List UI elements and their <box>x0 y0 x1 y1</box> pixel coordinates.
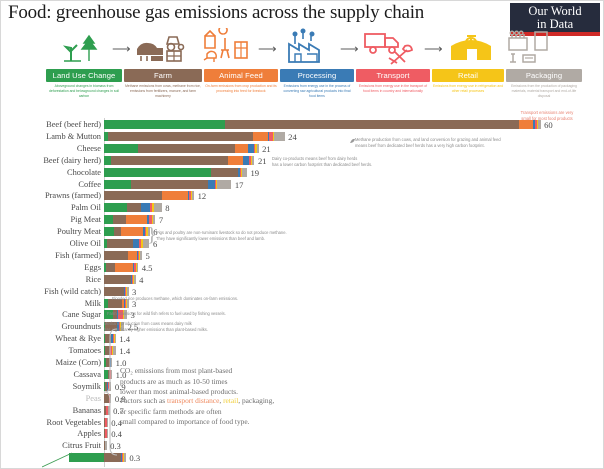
processing-factory-icon <box>280 26 334 68</box>
legend-desc-5: Emissions from energy use in refrigerati… <box>432 84 504 94</box>
bar-segment-land-use-change <box>104 120 225 129</box>
retail-store-icon <box>444 26 500 68</box>
annotation-plant-based-2: Factors such as transport distance, reta… <box>120 396 380 428</box>
bar-segment-processing <box>208 180 215 189</box>
bar-segment-packaging <box>140 251 141 260</box>
annotation-wildfish-note: Farm emissions for wild fish refers to f… <box>107 311 367 317</box>
row-label: Wheat & Rye <box>1 333 101 344</box>
row-label: Poultry Meat <box>1 226 101 237</box>
bar-segment-land-use-change <box>104 168 211 177</box>
bar-segment-farm <box>108 132 253 141</box>
legend-block-retail[interactable]: Retail <box>432 69 504 82</box>
plant-based-2-transport: transport distance <box>167 396 219 405</box>
annotation-dairy-note: Dairy co-products means beef from dairy … <box>272 156 492 169</box>
row-label: Olive Oil <box>1 238 101 249</box>
plant-based-brace <box>105 328 119 456</box>
methane-marker-icon <box>349 137 356 144</box>
plant-based-2-pre: Factors such as <box>120 396 167 405</box>
row-value: 0.3 <box>129 453 140 464</box>
legend-block-land-use-change[interactable]: Land Use Change <box>46 69 122 82</box>
row-label: Bananas <box>1 405 101 416</box>
farm-livestock-icon <box>132 26 192 68</box>
bar-segment-land-use-change <box>104 215 113 224</box>
bar-segment-animal-feed <box>115 263 133 272</box>
bar-segment-farm <box>113 215 126 224</box>
bar-segment-packaging <box>257 144 258 153</box>
bar-segment-animal-feed <box>128 251 137 260</box>
bar-segment-animal-feed <box>235 144 248 153</box>
annotation-rice-note: Flooded rice produces methane, which dom… <box>112 296 372 302</box>
bar-segment-farm <box>127 203 140 212</box>
annotation-pig-poultry-note: Pigs and poultry are non-ruminant livest… <box>156 230 406 243</box>
legend-block-farm[interactable]: Farm <box>124 69 202 82</box>
arrow-right-icon-4: ⟶ <box>424 42 443 55</box>
bar-segment-farm <box>111 156 228 165</box>
bar-segment-farm <box>104 251 128 260</box>
animal-feed-icon <box>198 26 254 68</box>
bar-segment-animal-feed <box>126 215 148 224</box>
row-label: Fish (farmed) <box>1 250 101 261</box>
bar-segment-packaging <box>127 287 128 296</box>
legend-desc-3: Emissions from energy use in the process… <box>280 84 354 100</box>
row-label: Coffee <box>1 179 101 190</box>
row-label: Cane Sugar <box>1 309 101 320</box>
row-label: Lamb & Mutton <box>1 131 101 142</box>
bar-segment-farm <box>104 275 131 284</box>
bar-segment-animal-feed <box>228 156 244 165</box>
bar-segment-land-use-change <box>104 203 127 212</box>
row-label: Groundnuts <box>1 321 101 332</box>
legend-desc-1: Methane emissions from cows, methane fro… <box>124 84 202 100</box>
nuts-callout-line <box>42 452 82 468</box>
legend-block-animal-feed[interactable]: Animal Feed <box>204 69 278 82</box>
packaging-icon <box>504 26 560 68</box>
transport-truck-plane-icon <box>360 26 418 68</box>
row-label: Tomatoes <box>1 345 101 356</box>
legend-desc-2: On-farm emissions from crop production a… <box>204 84 278 94</box>
legend-block-packaging[interactable]: Packaging <box>506 69 582 82</box>
bar-segment-packaging <box>217 180 231 189</box>
bar-segment-land-use-change <box>104 156 111 165</box>
chart-row[interactable]: Nuts0.3 <box>0 451 604 466</box>
row-label: Root Vegetables <box>1 417 101 428</box>
legend-desc-4: Emissions from energy use in the transpo… <box>356 84 430 94</box>
legend-desc-0: Aboveground changes in biomass from defo… <box>46 84 122 100</box>
row-label: Soymilk <box>1 381 101 392</box>
row-label: Beef (dairy herd) <box>1 155 101 166</box>
page-title: Food: greenhouse gas emissions across th… <box>8 2 424 24</box>
bar-segment-farm <box>106 263 115 272</box>
arrow-right-icon-2: ⟶ <box>258 42 277 55</box>
row-label: Rice <box>1 274 101 285</box>
row-label: Chocolate <box>1 167 101 178</box>
row-label: Peas <box>1 393 101 404</box>
arrow-right-icon-3: ⟶ <box>340 42 359 55</box>
bar-segment-packaging <box>242 168 247 177</box>
bar-segment-packaging <box>134 275 135 284</box>
owid-logo-line1: Our World <box>510 5 600 18</box>
bar-segment-packaging <box>153 215 155 224</box>
row-label: Milk <box>1 298 101 309</box>
bar-segment-farm <box>225 120 519 129</box>
row-label: Citrus Fruit <box>1 440 101 451</box>
row-label: Cassava <box>1 369 101 380</box>
arrow-right-icon-1: ⟶ <box>112 42 131 55</box>
legend-block-transport[interactable]: Transport <box>356 69 430 82</box>
annotation-milk-note: Methane production from cows means dairy… <box>104 321 354 334</box>
bar-segment-packaging <box>192 191 194 200</box>
bar-segment-farm <box>138 144 236 153</box>
bar-segment-farm <box>107 239 133 248</box>
row-label: Fish (wild catch) <box>1 286 101 297</box>
bar-segment-packaging <box>274 132 284 141</box>
bar-segment-packaging <box>252 156 254 165</box>
row-label: Cheese <box>1 143 101 154</box>
bar-segment-packaging <box>124 453 125 462</box>
bar-segment-land-use-change <box>104 144 138 153</box>
bar-segment-farm <box>131 180 208 189</box>
bar-segment-farm <box>104 287 124 296</box>
bar-segment-land-use-change <box>104 180 131 189</box>
deforestation-icon <box>58 26 108 68</box>
annotation-transport-small: Transport emissions are very small for m… <box>497 110 597 123</box>
row-label: Pig Meat <box>1 214 101 225</box>
bar-segment-animal-feed <box>121 227 143 236</box>
bar-segment-farm <box>114 227 121 236</box>
row-label: Apples <box>1 428 101 439</box>
row-label: Eggs <box>1 262 101 273</box>
bar-segment-farm <box>104 191 162 200</box>
row-label: Beef (beef herd) <box>1 119 101 130</box>
bar-segment-farm <box>211 168 239 177</box>
pig-poultry-brace: } <box>147 225 157 245</box>
annotation-plant-based-1: CO₂ emissions from most plant-based prod… <box>120 366 360 398</box>
bar-segment-land-use-change <box>104 227 114 236</box>
supply-chain-legend: Land Use ChangeAboveground changes in bi… <box>46 69 578 114</box>
bar-segment-animal-feed <box>162 191 188 200</box>
bar-segment-processing <box>141 203 151 212</box>
bar-segment-animal-feed <box>253 132 268 141</box>
row-label: Prawns (farmed) <box>1 190 101 201</box>
plant-based-2-retail: retail <box>223 396 238 405</box>
supply-chain-icon-strip: ⟶ ⟶ ⟶ <box>0 26 604 68</box>
bar-segment-packaging <box>154 203 162 212</box>
legend-block-processing[interactable]: Processing <box>280 69 354 82</box>
legend-desc-6: Emissions from the production of packagi… <box>506 84 582 100</box>
bar-segment-packaging <box>137 263 138 272</box>
annotation-beef-note: Methane production from cows, and land c… <box>355 137 604 150</box>
row-label: Palm Oil <box>1 202 101 213</box>
row-label: Maize (Corn) <box>1 357 101 368</box>
